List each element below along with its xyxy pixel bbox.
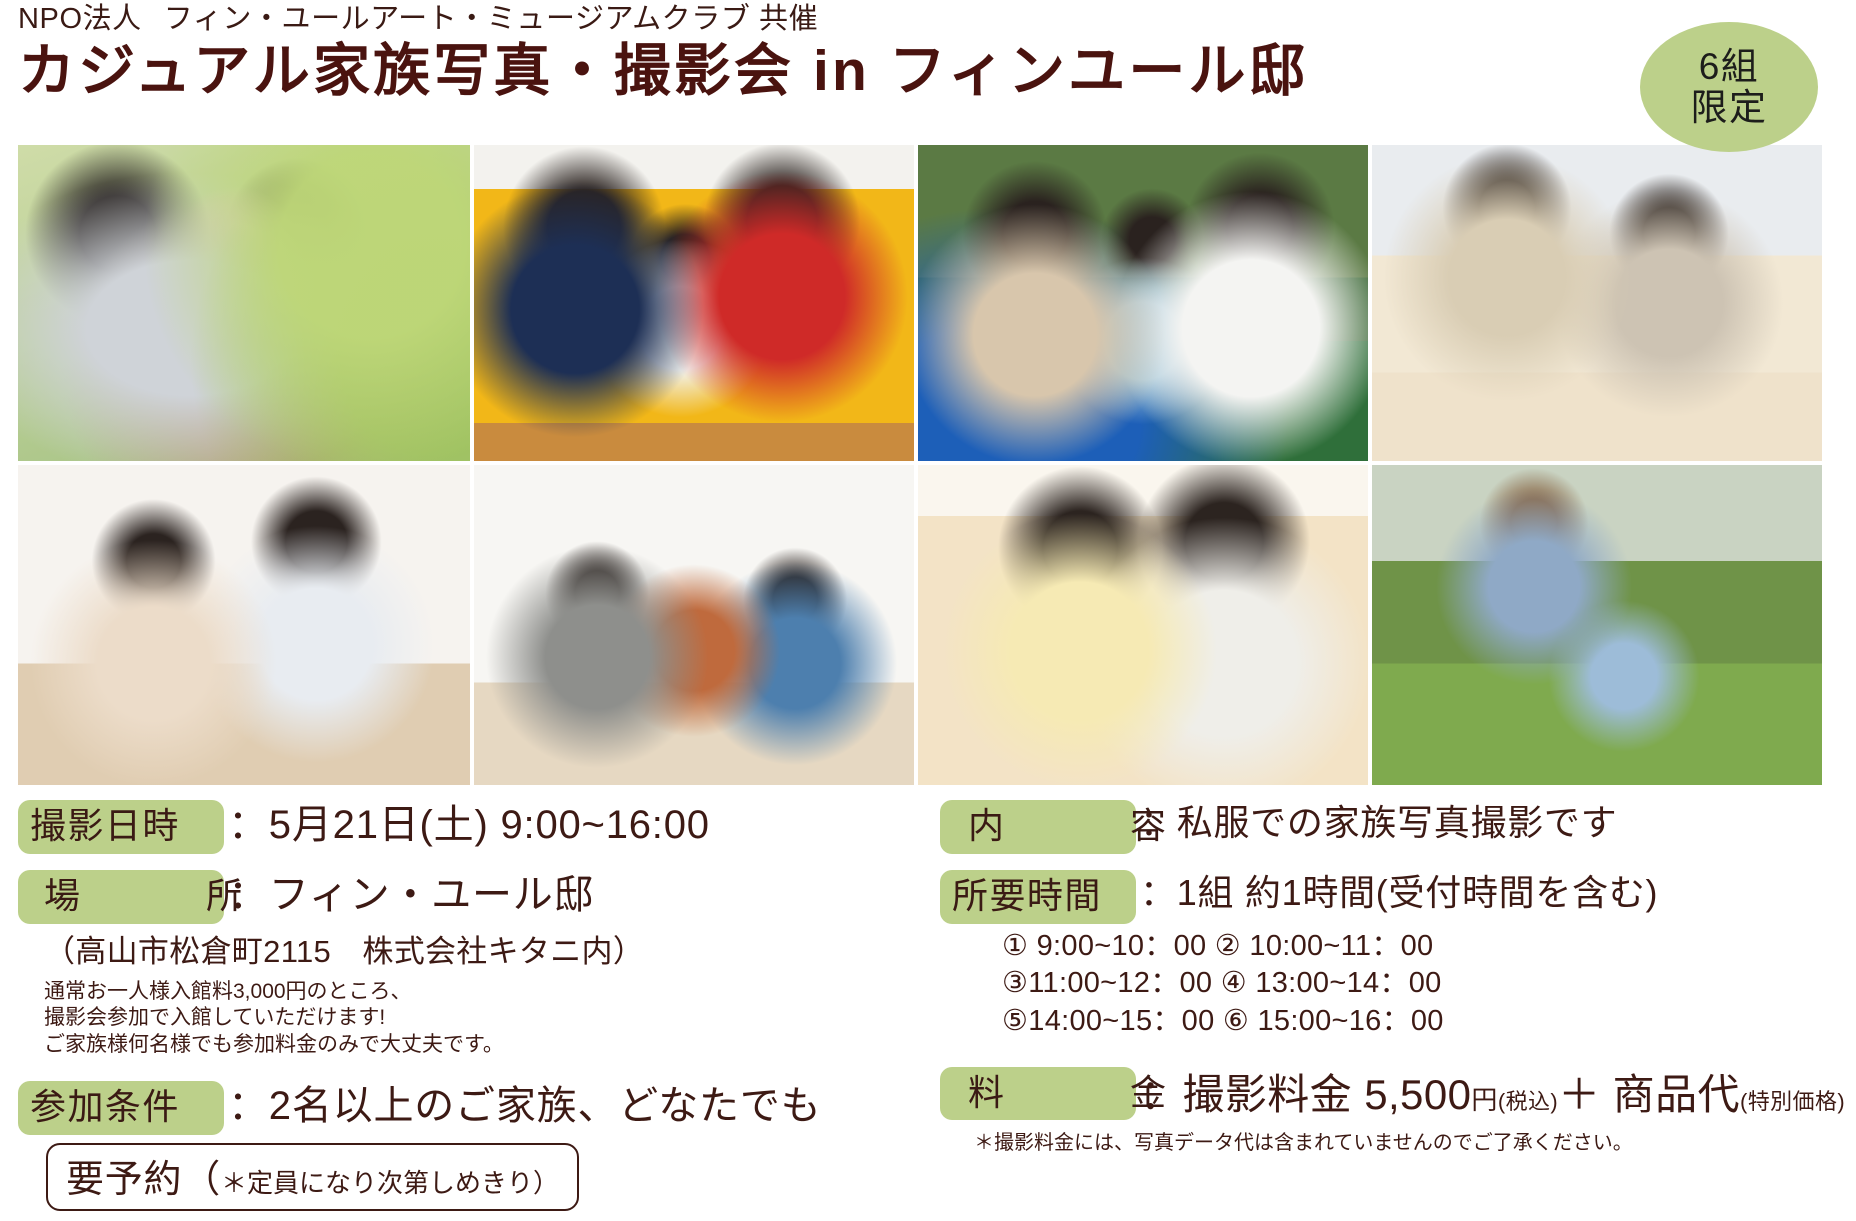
value-place: ：フィン・ユール邸 [224, 873, 594, 918]
photo-grid-row-2 [18, 465, 1822, 785]
label-conditions: 参加条件 [18, 1081, 224, 1135]
price-amount: ：撮影料金 5,500 [1140, 1071, 1471, 1118]
label-price: 料 金 [940, 1067, 1136, 1121]
poster-header: NPO法人フィン・ユールアート・ミュージアムクラブ 共催 カジュアル家族写真・撮… [18, 4, 1618, 102]
price-plus: ＋ 商品代 [1558, 1071, 1740, 1118]
label-content: 内 容 [940, 800, 1136, 854]
info-row-datetime: 撮影日時 ：5月21日(土) 9:00~16:00 [18, 800, 898, 854]
place-note-1: 通常お一人様入館料3,000円のところ、 [44, 979, 898, 1006]
place-note-3: ご家族様何名様でも参加料金のみで大丈夫です。 [44, 1032, 898, 1059]
reservation-note: ＊定員になり次第しめきり） [221, 1168, 559, 1198]
photo-cell-6 [474, 465, 914, 785]
host-line: NPO法人フィン・ユールアート・ミュージアムクラブ 共催 [18, 4, 1618, 36]
place-note-2: 撮影会参加で入館していただけます! [44, 1005, 898, 1032]
price-unit: 円 [1471, 1085, 1497, 1115]
limit-badge-line1: 6組 [1699, 46, 1760, 87]
photo-image-4 [1372, 145, 1822, 461]
value-datetime: ：5月21日(土) 9:00~16:00 [224, 803, 710, 848]
info-column-left: 撮影日時 ：5月21日(土) 9:00~16:00 場 所 ：フィン・ユール邸 … [18, 800, 898, 1221]
photo-grid-row-1 [18, 145, 1822, 461]
value-content: ：私服での家族写真撮影です [1136, 803, 1617, 843]
info-row-place: 場 所 ：フィン・ユール邸 （高山市松倉町2115 株式会社キタニ内） 通常お一… [18, 870, 898, 1059]
photo-cell-8 [1372, 465, 1822, 785]
poster-root: NPO法人フィン・ユールアート・ミュージアムクラブ 共催 カジュアル家族写真・撮… [0, 0, 1856, 1162]
info-column-right: 内 容 ：私服での家族写真撮影です 所要時間 ：1組 約1時間(受付時間を含む)… [940, 800, 1840, 1165]
photo-cell-4 [1372, 145, 1822, 461]
photo-cell-3 [918, 145, 1368, 461]
value-conditions: ：2名以上のご家族、どなたでも [224, 1084, 821, 1129]
price-special-note: (特別価格) [1740, 1089, 1845, 1114]
label-duration: 所要時間 [940, 870, 1136, 924]
value-price: ：撮影料金 5,500円(税込)＋ 商品代(特別価格) [1136, 1072, 1845, 1118]
price-footnote: ＊撮影料金には、写真データ代は含まれていませんのでご了承ください。 [940, 1126, 1840, 1155]
reservation-text: 要予約（ [66, 1159, 221, 1201]
photo-cell-5 [18, 465, 470, 785]
limit-badge-line2: 限定 [1691, 87, 1768, 128]
info-row-duration: 所要時間 ：1組 約1時間(受付時間を含む) ① 9:00~10：00 ② 10… [940, 870, 1840, 1041]
reservation-box: 要予約（＊定員になり次第しめきり） [46, 1143, 579, 1211]
photo-image-8 [1372, 465, 1822, 785]
info-row-content: 内 容 ：私服での家族写真撮影です [940, 800, 1840, 854]
photo-image-3 [918, 145, 1368, 461]
photo-cell-7 [918, 465, 1368, 785]
value-duration: ：1組 約1時間(受付時間を含む) [1136, 873, 1658, 913]
price-tax-note: (税込) [1498, 1089, 1558, 1114]
value-place-address: （高山市松倉町2115 株式会社キタニ内） [18, 926, 898, 971]
photo-image-1 [18, 145, 470, 461]
time-slot-row-2: ③11:00~12：00 ④ 13:00~14：00 [1002, 965, 1840, 1003]
host-prefix: NPO法人 [18, 3, 142, 35]
limit-badge: 6組 限定 [1640, 22, 1818, 152]
photo-image-7 [918, 465, 1368, 785]
photo-cell-2 [474, 145, 914, 461]
info-section: 撮影日時 ：5月21日(土) 9:00~16:00 場 所 ：フィン・ユール邸 … [0, 800, 1856, 1162]
photo-grid [18, 145, 1822, 785]
page-title: カジュアル家族写真・撮影会 in フィンユール邸 [18, 42, 1618, 102]
photo-image-5 [18, 465, 470, 785]
host-name: フィン・ユールアート・ミュージアムクラブ 共催 [164, 3, 818, 35]
label-place: 場 所 [18, 870, 224, 924]
label-datetime: 撮影日時 [18, 800, 224, 854]
photo-cell-1 [18, 145, 470, 461]
time-slot-row-3: ⑤14:00~15：00 ⑥ 15:00~16：00 [1002, 1003, 1840, 1041]
time-slot-row-1: ① 9:00~10：00 ② 10:00~11：00 [1002, 928, 1840, 966]
info-row-price: 料 金 ：撮影料金 5,500円(税込)＋ 商品代(特別価格) ＊撮影料金には、… [940, 1067, 1840, 1156]
place-notes: 通常お一人様入館料3,000円のところ、 撮影会参加で入館していただけます! ご… [18, 979, 898, 1060]
photo-image-6 [474, 465, 914, 785]
info-row-conditions: 参加条件 ：2名以上のご家族、どなたでも 要予約（＊定員になり次第しめきり） [18, 1081, 898, 1211]
photo-image-2 [474, 145, 914, 461]
time-slot-list: ① 9:00~10：00 ② 10:00~11：00 ③11:00~12：00 … [940, 928, 1840, 1041]
